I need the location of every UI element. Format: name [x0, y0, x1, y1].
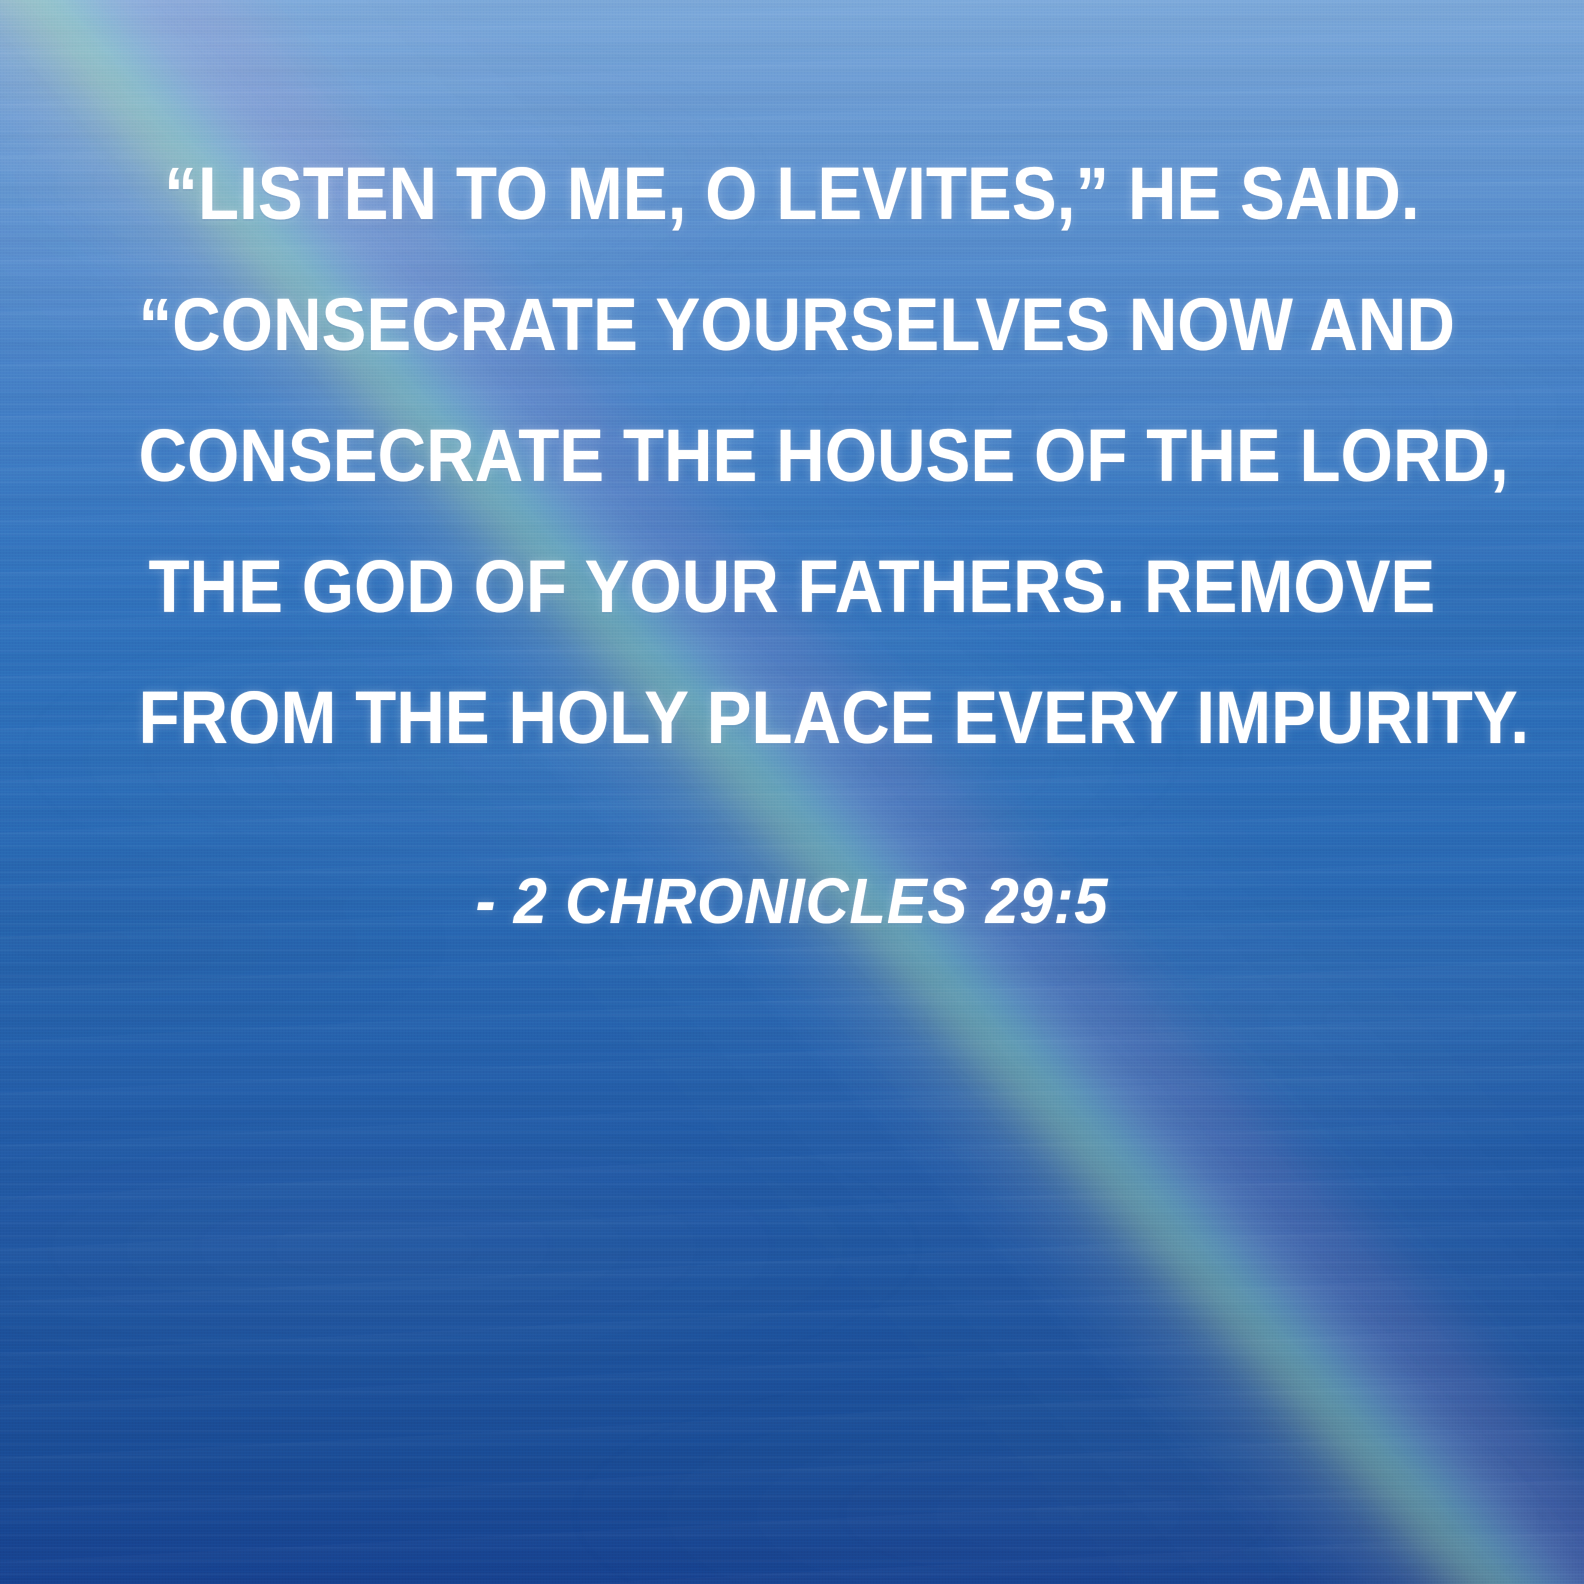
verse-line: THE GOD OF YOUR FATHERS. REMOVE [139, 521, 1446, 652]
verse-attribution: - 2 CHRONICLES 29:5 [121, 841, 1464, 961]
verse-line: CONSECRATE THE HOUSE OF THE LORD, [139, 390, 1446, 521]
verse-text-block: “LISTEN TO ME, O LEVITES,” HE SAID. “CON… [0, 128, 1584, 961]
verse-line: “CONSECRATE YOURSELVES NOW AND [139, 259, 1446, 390]
verse-line: “LISTEN TO ME, O LEVITES,” HE SAID. [139, 128, 1446, 259]
verse-line: FROM THE HOLY PLACE EVERY IMPURITY. [139, 652, 1446, 783]
verse-image-card: “LISTEN TO ME, O LEVITES,” HE SAID. “CON… [0, 0, 1584, 1584]
